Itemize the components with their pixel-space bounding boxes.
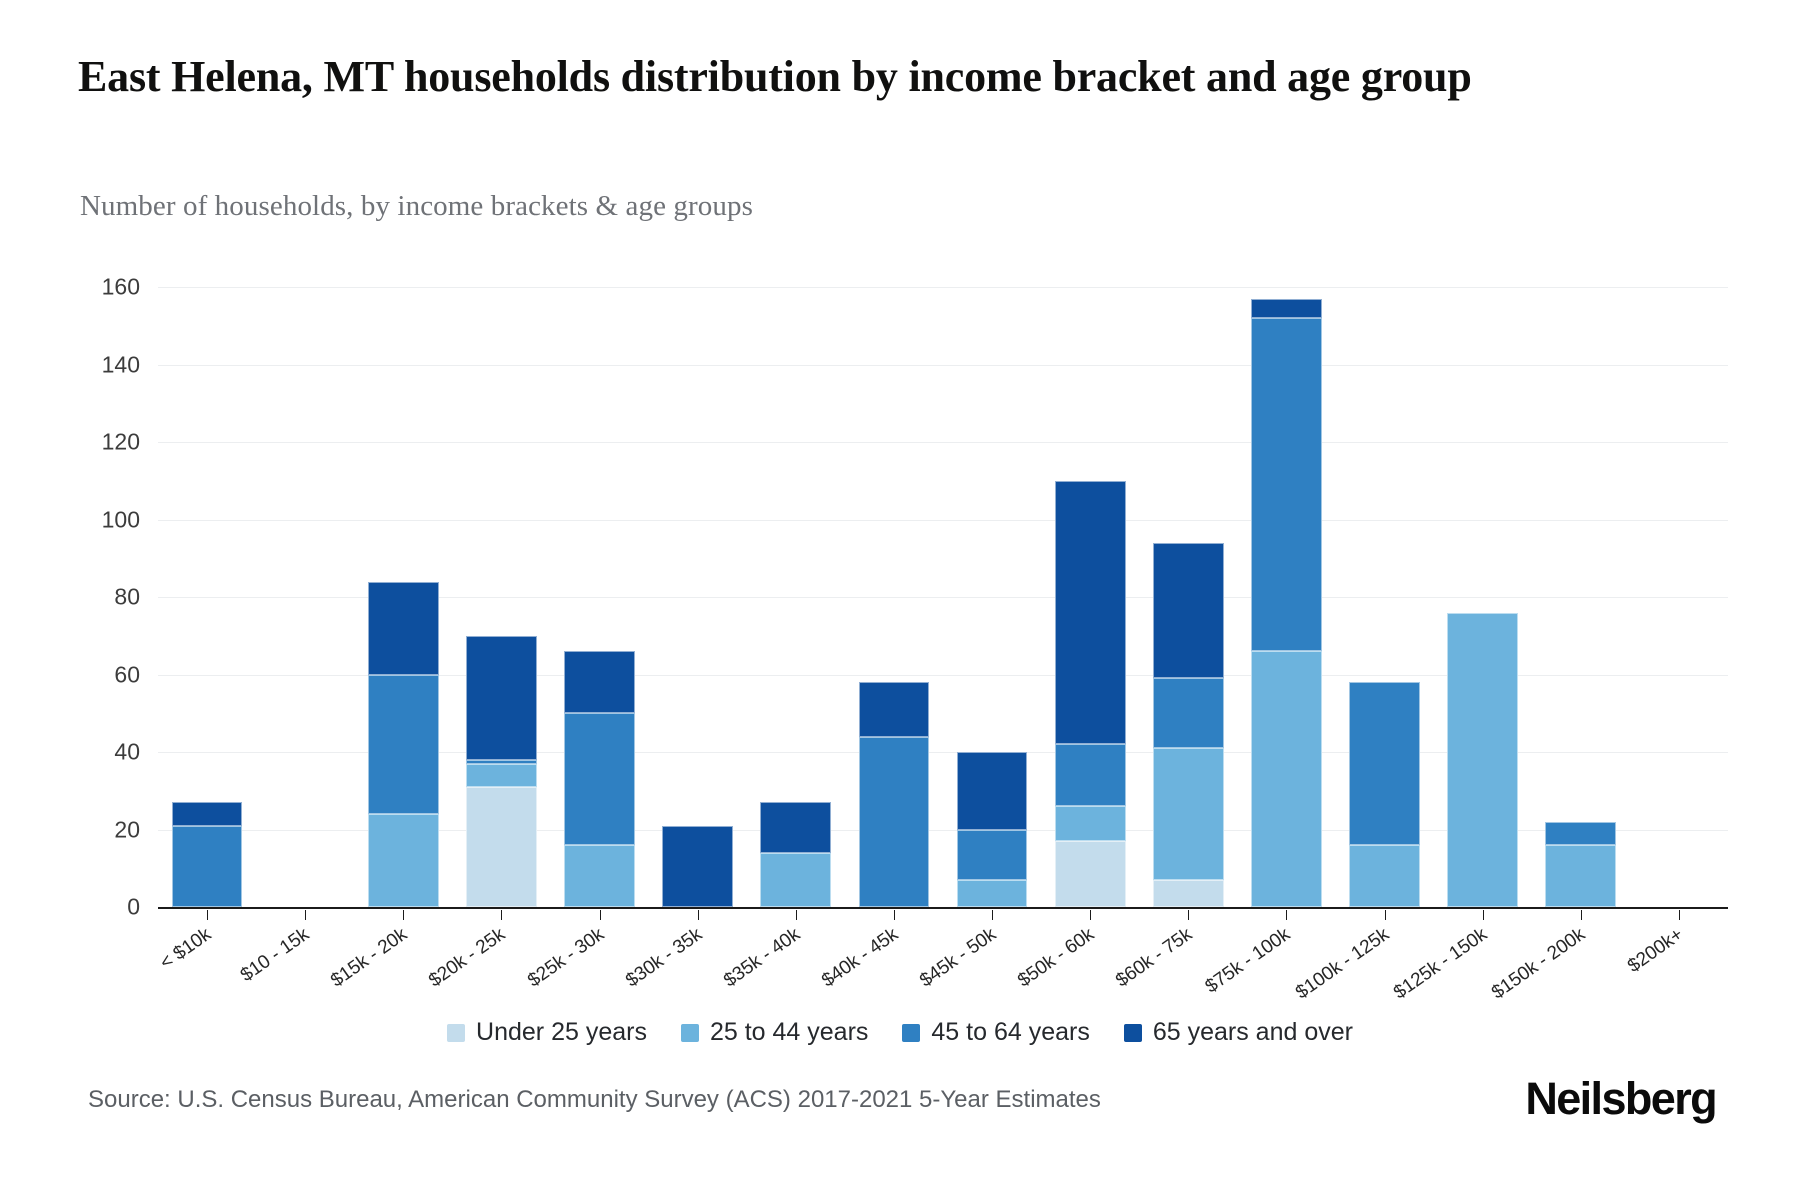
x-axis-tick [501,910,502,920]
bar-segment[interactable] [859,682,930,736]
x-axis-tick [1581,910,1582,920]
x-axis-line [158,907,1728,909]
y-axis-tick-label: 100 [50,506,140,533]
x-axis-tick-label: $25k - 30k [524,924,608,992]
y-axis-tick-label: 40 [50,739,140,766]
y-axis-tick-label: 160 [50,274,140,301]
brand-logo: Neilsberg [1525,1073,1716,1125]
x-axis-tick [992,910,993,920]
bar-segment[interactable] [957,830,1028,880]
bar-segment[interactable] [1545,845,1616,907]
x-axis-tick [1483,910,1484,920]
legend-item[interactable]: 45 to 64 years [902,1018,1089,1047]
legend-item[interactable]: 25 to 44 years [681,1018,868,1047]
bar-segment[interactable] [760,853,831,907]
bar-segment[interactable] [957,880,1028,907]
legend-swatch-icon [447,1024,465,1042]
gridline [158,520,1728,521]
y-axis-tick-label: 140 [50,351,140,378]
x-axis-tick-label: $20k - 25k [426,924,510,992]
gridline [158,287,1728,288]
plot-area: 020406080100120140160 [158,287,1728,909]
y-axis-tick-label: 60 [50,661,140,688]
bar-segment[interactable] [1251,299,1322,318]
bar-segment[interactable] [466,636,537,760]
x-axis-tick [1188,910,1189,920]
x-axis-tick-label: $35k - 40k [720,924,804,992]
y-axis-tick-label: 20 [50,816,140,843]
x-axis-tick-label: $40k - 45k [818,924,902,992]
x-axis-tick-label: $15k - 20k [327,924,411,992]
x-axis-tick [600,910,601,920]
x-axis-tick [894,910,895,920]
x-axis-tick-label: $50k - 60k [1014,924,1098,992]
bar-stack[interactable] [859,682,930,907]
source-note: Source: U.S. Census Bureau, American Com… [88,1086,1101,1114]
x-axis-tick-label: $10 - 15k [237,924,314,987]
bar-stack[interactable] [1055,481,1126,907]
bar-segment[interactable] [957,752,1028,830]
bar-segment[interactable] [466,760,537,764]
bar-segment[interactable] [1545,822,1616,845]
gridline [158,365,1728,366]
legend-item-label: 65 years and over [1153,1018,1353,1047]
bar-segment[interactable] [466,764,537,787]
bar-segment[interactable] [1055,481,1126,745]
legend-swatch-icon [902,1024,920,1042]
x-axis-tick [698,910,699,920]
bar-segment[interactable] [662,826,733,907]
bar-stack[interactable] [1349,682,1420,907]
bar-segment[interactable] [1153,748,1224,880]
bar-segment[interactable] [368,582,439,675]
legend-item-label: 45 to 64 years [931,1018,1089,1047]
legend-item-label: Under 25 years [476,1018,647,1047]
bar-stack[interactable] [662,826,733,907]
page-title: East Helena, MT households distribution … [78,48,1718,106]
bar-segment[interactable] [1251,318,1322,651]
x-axis-tick [403,910,404,920]
bar-segment[interactable] [564,651,635,713]
bar-segment[interactable] [368,675,439,815]
chart-legend: Under 25 years25 to 44 years45 to 64 yea… [0,1018,1800,1047]
bar-stack[interactable] [368,582,439,908]
bar-segment[interactable] [172,802,243,825]
bar-segment[interactable] [564,845,635,907]
x-axis-tick [305,910,306,920]
x-axis-tick-label: $45k - 50k [916,924,1000,992]
bar-stack[interactable] [1251,299,1322,907]
x-axis-tick-label: $200k+ [1624,924,1688,978]
x-axis-tick [1385,910,1386,920]
bar-segment[interactable] [466,787,537,907]
bar-segment[interactable] [1153,678,1224,748]
bar-segment[interactable] [760,802,831,852]
x-axis-tick [1679,910,1680,920]
bar-stack[interactable] [1545,822,1616,907]
legend-item[interactable]: 65 years and over [1124,1018,1353,1047]
bar-segment[interactable] [859,737,930,908]
gridline [158,442,1728,443]
y-axis-tick-label: 80 [50,584,140,611]
bar-segment[interactable] [1153,880,1224,907]
bar-stack[interactable] [957,752,1028,907]
x-axis-tick-label: $30k - 35k [622,924,706,992]
bar-segment[interactable] [368,814,439,907]
x-axis-tick-label: < $10k [156,924,215,975]
bar-segment[interactable] [172,826,243,907]
bar-stack[interactable] [172,802,243,907]
legend-item-label: 25 to 44 years [710,1018,868,1047]
y-axis-tick-label: 0 [50,894,140,921]
bar-stack[interactable] [760,802,831,907]
bar-stack[interactable] [564,651,635,907]
bar-segment[interactable] [1055,841,1126,907]
legend-swatch-icon [1124,1024,1142,1042]
bar-segment[interactable] [1153,543,1224,679]
bar-segment[interactable] [1447,613,1518,908]
bar-stack[interactable] [1153,543,1224,907]
x-axis-tick-label: $60k - 75k [1112,924,1196,992]
x-axis-tick-label: $125k - 150k [1390,924,1492,1004]
legend-swatch-icon [681,1024,699,1042]
x-axis-tick-label: $150k - 200k [1488,924,1590,1004]
bar-segment[interactable] [1349,845,1420,907]
bar-segment[interactable] [1055,806,1126,841]
y-axis-tick-label: 120 [50,429,140,456]
x-axis-tick [796,910,797,920]
x-axis-tick-label: $100k - 125k [1292,924,1394,1004]
bar-segment[interactable] [1349,682,1420,845]
x-axis-tick [1090,910,1091,920]
bar-segment[interactable] [1251,651,1322,907]
page-subtitle: Number of households, by income brackets… [80,190,753,223]
bar-stack[interactable] [1447,613,1518,908]
x-axis-tick [207,910,208,920]
bar-segment[interactable] [564,713,635,845]
x-axis-tick-label: $75k - 100k [1202,924,1295,998]
chart-page: East Helena, MT households distribution … [0,0,1800,1200]
bar-segment[interactable] [1055,744,1126,806]
legend-item[interactable]: Under 25 years [447,1018,647,1047]
bar-stack[interactable] [466,636,537,907]
x-axis-tick [1286,910,1287,920]
